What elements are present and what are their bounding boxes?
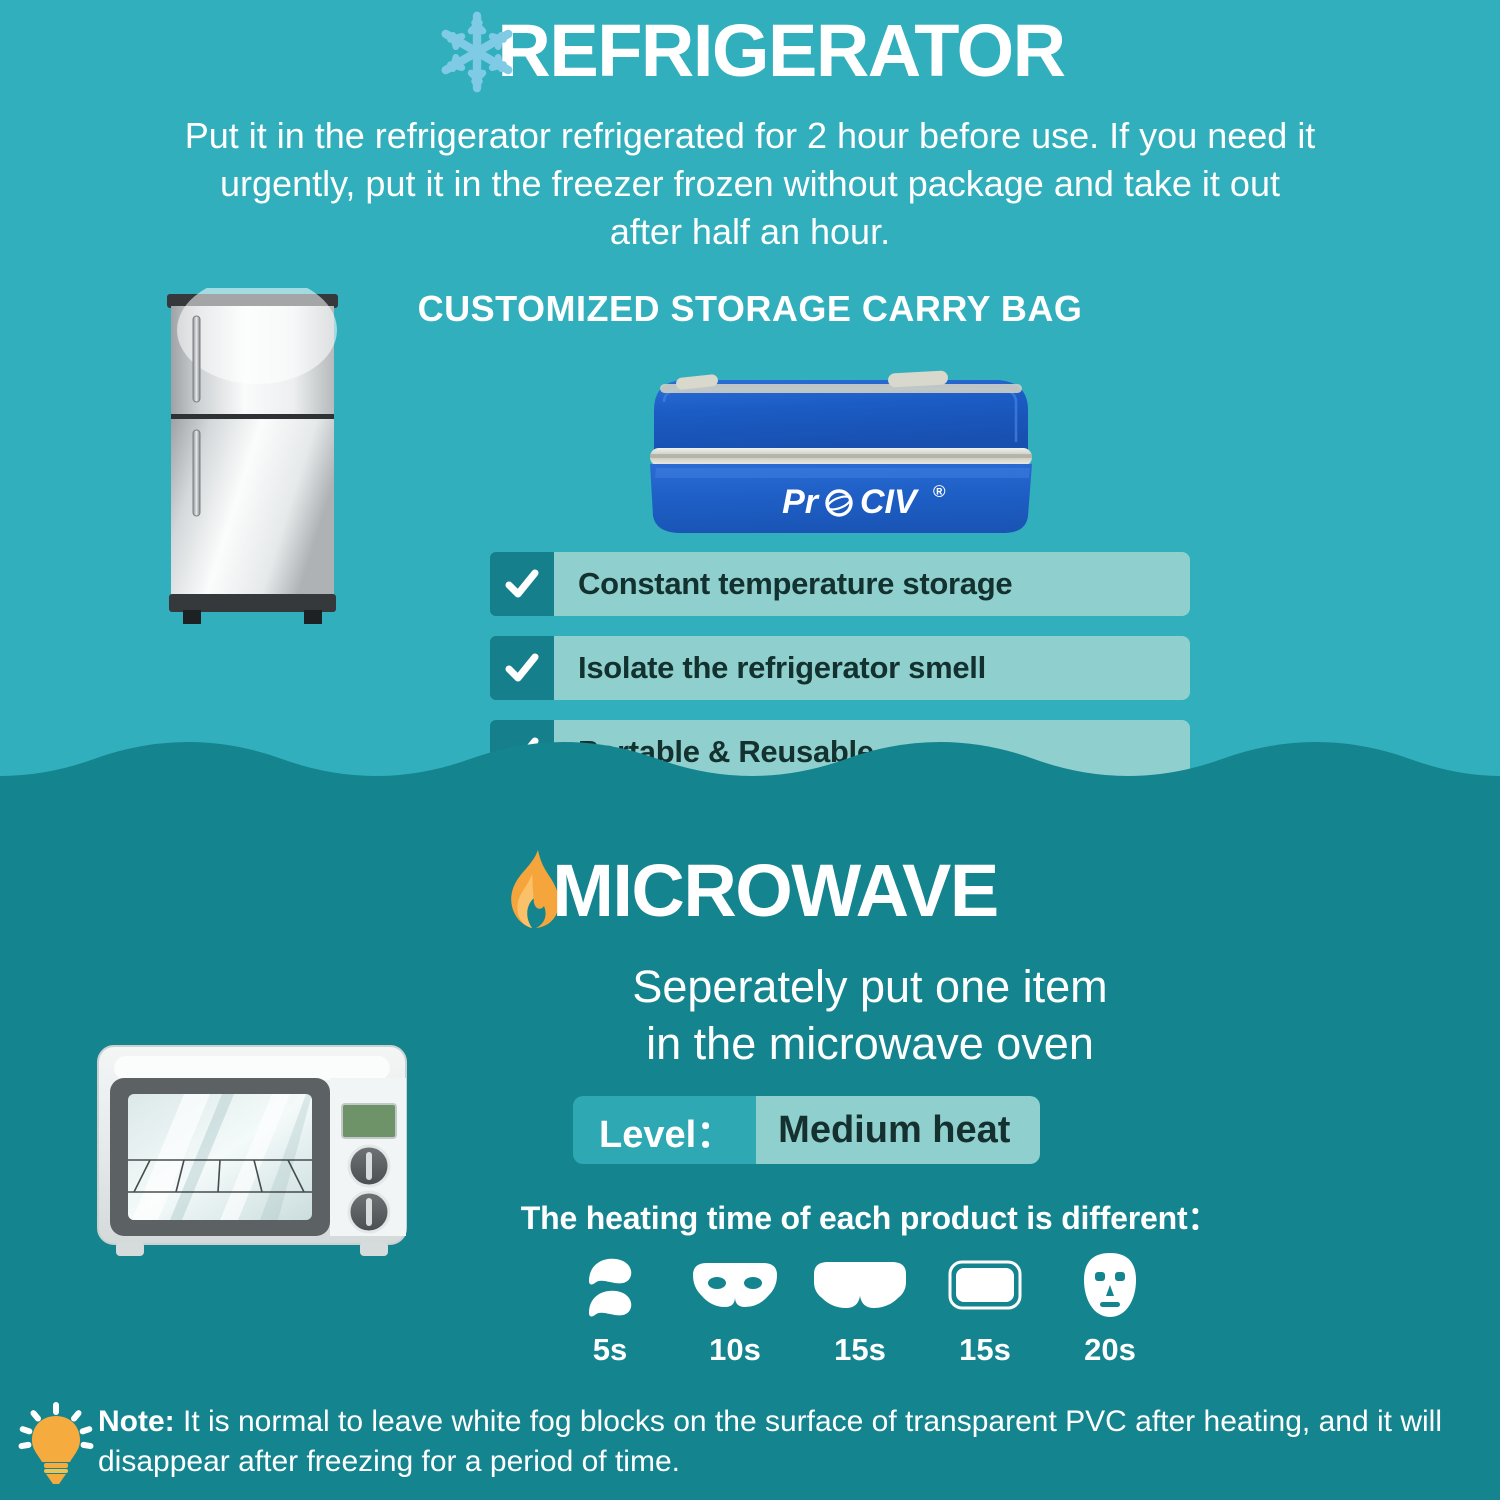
svg-text:CIV: CIV — [860, 483, 920, 521]
infographic-page: REFRIGERATOR Put it in the refrigerator … — [0, 0, 1500, 1500]
product-item: 15s — [930, 1252, 1040, 1368]
footer-note-body: It is normal to leave white fog blocks o… — [98, 1405, 1442, 1478]
svg-text:®: ® — [933, 482, 946, 501]
bag-brand-prefix: Pr — [782, 483, 820, 521]
product-time: 10s — [709, 1332, 761, 1368]
eye-patches-icon — [579, 1252, 641, 1318]
product-time: 20s — [1084, 1332, 1136, 1368]
product-item: 20s — [1055, 1252, 1165, 1368]
microwave-description-line2: in the microwave oven — [430, 1015, 1310, 1072]
microwave-heading: MICROWAVE — [0, 848, 1500, 934]
product-icon-row: 5s 10s 15s — [555, 1252, 1165, 1368]
microwave-title: MICROWAVE — [552, 848, 998, 934]
check-icon — [490, 636, 554, 700]
footer-note-text: Note: It is normal to leave white fog bl… — [94, 1398, 1478, 1482]
snowflake-icon — [435, 10, 519, 94]
footer-note: Note: It is normal to leave white fog bl… — [18, 1398, 1478, 1486]
product-item: 5s — [555, 1252, 665, 1368]
carry-bag-title: CUSTOMIZED STORAGE CARRY BAG — [0, 288, 1500, 330]
product-item: 15s — [805, 1252, 915, 1368]
refrigerator-heading: REFRIGERATOR — [0, 8, 1500, 94]
level-badge: Level： Medium heat — [573, 1096, 1040, 1164]
feature-row: Isolate the refrigerator smell — [490, 636, 1190, 700]
feature-label: Isolate the refrigerator smell — [554, 636, 1190, 700]
microwave-description-line1: Seperately put one item — [430, 958, 1310, 1015]
face-mask-icon — [1081, 1252, 1139, 1318]
refrigerator-illustration — [165, 288, 340, 633]
footer-note-label: Note: — [98, 1405, 175, 1438]
carry-bag-illustration: Pr CIV ® — [620, 358, 1060, 543]
sleep-mask-icon — [810, 1252, 910, 1318]
microwave-description: Seperately put one item in the microwave… — [430, 958, 1310, 1072]
product-time: 15s — [834, 1332, 886, 1368]
gel-pad-icon — [947, 1252, 1023, 1318]
eye-mask-icon — [689, 1252, 781, 1318]
wave-divider — [0, 738, 1500, 798]
product-item: 10s — [680, 1252, 790, 1368]
product-time: 5s — [593, 1332, 627, 1368]
refrigerator-description: Put it in the refrigerator refrigerated … — [180, 112, 1320, 256]
lightbulb-icon — [18, 1400, 94, 1486]
refrigerator-title: REFRIGERATOR — [497, 8, 1064, 94]
feature-label: Constant temperature storage — [554, 552, 1190, 616]
check-icon — [490, 552, 554, 616]
product-time: 15s — [959, 1332, 1011, 1368]
level-value: Medium heat — [756, 1096, 1040, 1164]
level-key: Level： — [573, 1096, 756, 1164]
feature-row: Constant temperature storage — [490, 552, 1190, 616]
oven-display — [342, 1104, 396, 1138]
heating-time-note: The heating time of each product is diff… — [300, 1193, 1440, 1239]
